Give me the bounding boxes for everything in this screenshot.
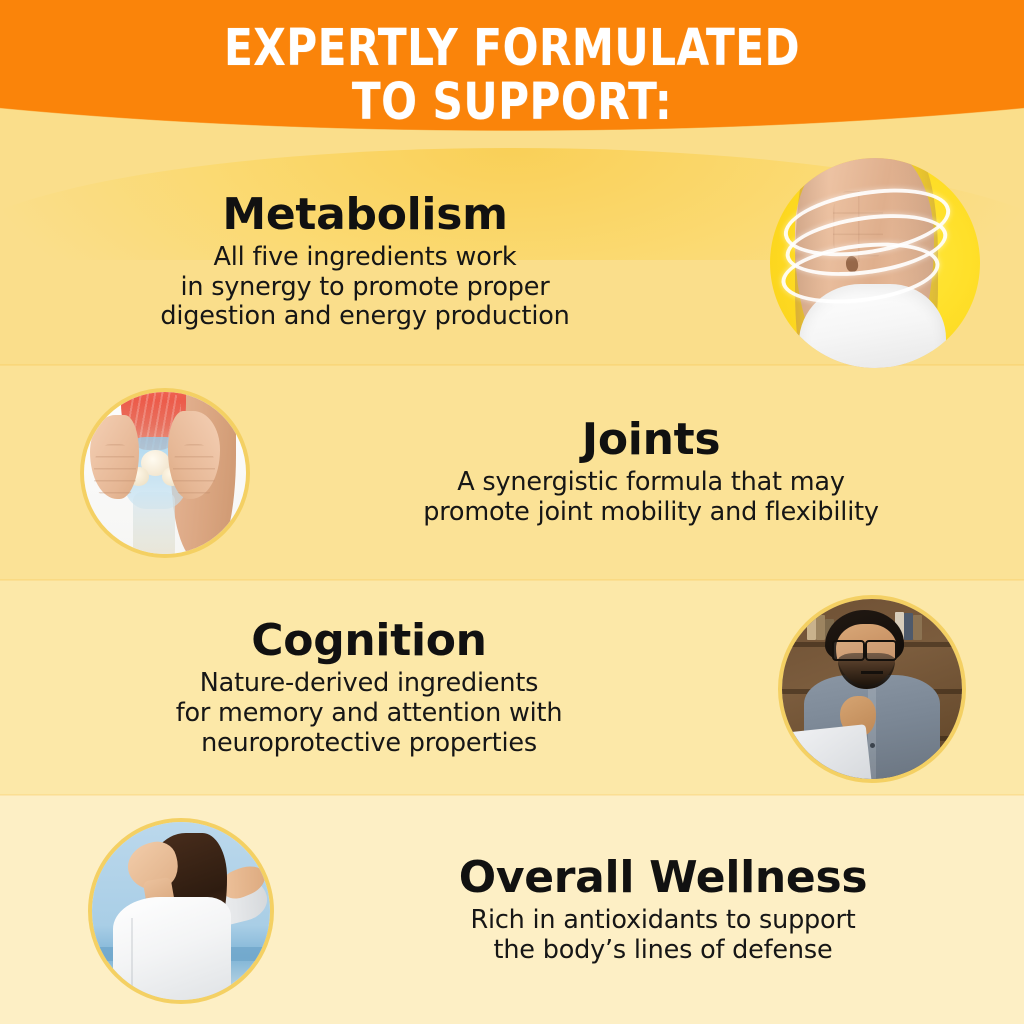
band-divider-2 (0, 579, 1024, 581)
page-title: EXPERTLY FORMULATED TO SUPPORT: (41, 22, 983, 130)
laptop-screen (782, 724, 871, 779)
book-2 (816, 615, 825, 640)
eyeglasses (832, 640, 897, 656)
section-metabolism-description: All five ingredients work in synergy to … (0, 243, 730, 332)
section-metabolism: Metabolism All five ingredients work in … (0, 160, 1024, 365)
book-6 (913, 615, 922, 640)
section-wellness-description: Rich in antioxidants to support the body… (302, 906, 1024, 966)
section-joints-title: Joints (278, 418, 1024, 462)
glasses-lens-left (832, 640, 865, 660)
section-metabolism-text: Metabolism All five ingredients work in … (0, 193, 770, 332)
section-metabolism-title: Metabolism (0, 193, 730, 237)
book-1 (807, 617, 816, 640)
section-joints-description: A synergistic formula that may promote j… (278, 468, 1024, 528)
section-cognition-title: Cognition (0, 619, 738, 663)
glasses-lens-right (865, 640, 898, 660)
section-joints-text: Joints A synergistic formula that may pr… (250, 418, 1024, 528)
woman-arms-open-sky-photo (88, 818, 274, 1004)
torso-measuring-rings-photo (770, 158, 980, 368)
cognition-image-content (782, 599, 962, 779)
glasses-bridge (861, 671, 883, 674)
man-thinking-at-laptop-photo (778, 595, 966, 783)
section-wellness-text: Overall Wellness Rich in antioxidants to… (274, 856, 1024, 966)
joints-image-content (84, 392, 246, 554)
section-wellness-title: Overall Wellness (302, 856, 1024, 900)
section-cognition-text: Cognition Nature-derived ingredients for… (0, 619, 778, 758)
shin-bone (133, 492, 175, 554)
wellness-image-content (92, 822, 270, 1000)
book-5 (904, 613, 913, 640)
infographic-poster: EXPERTLY FORMULATED TO SUPPORT: Metaboli… (0, 0, 1024, 1024)
section-wellness: Overall Wellness Rich in antioxidants to… (0, 798, 1024, 1024)
fingers-right (173, 444, 215, 499)
knee-anatomy-photo (80, 388, 250, 558)
fingers-left (94, 444, 136, 499)
shirt-fold (131, 918, 133, 996)
metabolism-image-content (770, 158, 980, 368)
section-cognition-description: Nature-derived ingredients for memory an… (0, 669, 738, 758)
section-joints: Joints A synergistic formula that may pr… (0, 368, 1024, 578)
section-cognition: Cognition Nature-derived ingredients for… (0, 583, 1024, 795)
